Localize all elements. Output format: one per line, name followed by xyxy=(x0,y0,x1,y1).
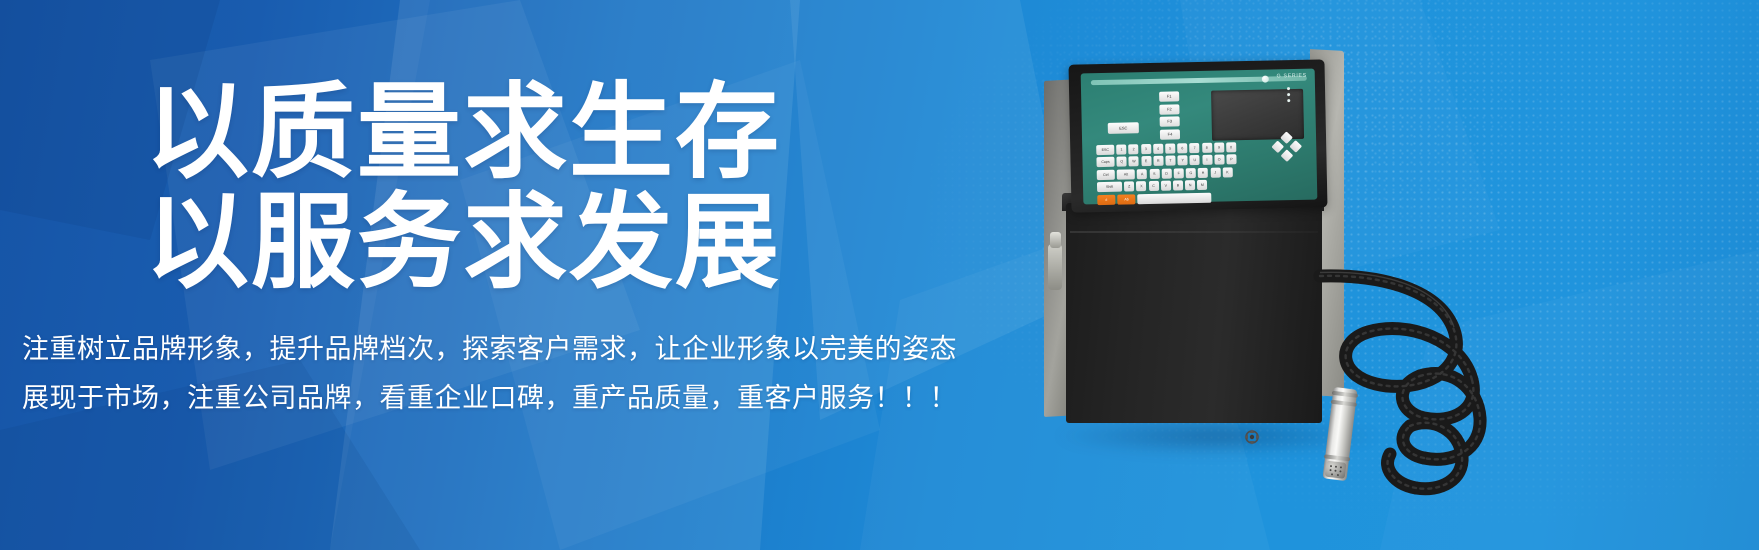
key-k[interactable]: K xyxy=(1222,167,1232,177)
key-b[interactable]: B xyxy=(1173,180,1183,190)
key-g[interactable]: G xyxy=(1186,168,1196,178)
status-led xyxy=(1262,76,1269,83)
subtitle-line-2: 展现于市场，注重公司品牌，看重企业口碑，重产品质量，重客户服务！！！ xyxy=(22,374,957,423)
subtitle: 注重树立品牌形象，提升品牌档次，探索客户需求，让企业形象以完美的姿态 展现于市场… xyxy=(22,325,957,423)
key-esc[interactable]: ESC xyxy=(1096,145,1114,155)
inkjet-printer-image: G SERIES F1 F2 F3 F4 ESC xyxy=(1012,36,1572,506)
keypad-panel: G SERIES F1 F2 F3 F4 ESC xyxy=(1081,69,1318,205)
function-key-group: F1 F2 F3 F4 xyxy=(1159,91,1180,141)
key-4[interactable]: 4 xyxy=(1153,144,1163,154)
promo-banner: 以质量求生存 以服务求发展 注重树立品牌形象，提升品牌档次，探索客户需求，让企业… xyxy=(0,0,1759,550)
key-d[interactable]: D xyxy=(1161,168,1171,178)
key-c[interactable]: C xyxy=(1148,181,1158,191)
copy-block: 以质量求生存 以服务求发展 注重树立品牌形象，提升品牌档次，探索客户需求，让企业… xyxy=(0,0,1000,550)
key-1[interactable]: 1 xyxy=(1116,145,1126,155)
cabinet-seam xyxy=(1070,231,1318,233)
subtitle-line-1: 注重树立品牌形象，提升品牌档次，探索客户需求，让企业形象以完美的姿态 xyxy=(22,325,957,374)
cabinet-lock-icon xyxy=(1242,427,1262,447)
keyboard-row: # Ab xyxy=(1097,190,1307,204)
control-head: G SERIES F1 F2 F3 F4 ESC xyxy=(1068,59,1327,212)
key-f2[interactable]: F2 xyxy=(1159,104,1179,114)
key-8[interactable]: 8 xyxy=(1202,143,1212,153)
headline: 以质量求生存 以服务求发展 xyxy=(145,78,781,298)
key-alt[interactable]: Alt xyxy=(1117,169,1135,179)
key-f[interactable]: F xyxy=(1174,168,1184,178)
key-v[interactable]: V xyxy=(1161,181,1171,191)
device-cabinet xyxy=(1066,201,1322,423)
key-shift[interactable]: Shift xyxy=(1097,182,1122,193)
key-p[interactable]: P xyxy=(1226,155,1236,165)
device-hinge xyxy=(1048,244,1062,290)
key-u[interactable]: U xyxy=(1190,155,1200,165)
headline-line-2: 以服务求发展 xyxy=(145,188,781,298)
key-f1[interactable]: F1 xyxy=(1159,91,1179,101)
key-w[interactable]: W xyxy=(1129,157,1139,167)
key-r[interactable]: R xyxy=(1153,156,1163,166)
key-f3[interactable]: F3 xyxy=(1160,116,1180,126)
key-7[interactable]: 7 xyxy=(1189,143,1199,153)
key-y[interactable]: Y xyxy=(1178,156,1188,166)
key-f4[interactable]: F4 xyxy=(1160,129,1180,139)
indicator-dots xyxy=(1287,87,1290,105)
key-5[interactable]: 5 xyxy=(1165,143,1175,153)
key-i[interactable]: I xyxy=(1202,155,1212,165)
key-caps[interactable]: Caps xyxy=(1096,157,1114,167)
key-0[interactable]: 0 xyxy=(1226,142,1236,152)
key-z[interactable]: Z xyxy=(1124,182,1134,192)
key-6[interactable]: 6 xyxy=(1177,143,1187,153)
key-esc-large[interactable]: ESC xyxy=(1108,122,1139,134)
key-space[interactable] xyxy=(1138,192,1212,204)
key-j[interactable]: J xyxy=(1210,167,1220,177)
device-hinge-upper xyxy=(1050,232,1061,248)
key-n[interactable]: N xyxy=(1185,180,1195,190)
key-q[interactable]: Q xyxy=(1117,157,1127,167)
key-2[interactable]: 2 xyxy=(1129,144,1139,154)
key-o[interactable]: O xyxy=(1214,155,1224,165)
panel-rail xyxy=(1091,76,1307,86)
key-stop[interactable]: Ab xyxy=(1117,194,1135,204)
key-3[interactable]: 3 xyxy=(1141,144,1151,154)
brand-label: G SERIES xyxy=(1277,73,1307,80)
key-e[interactable]: E xyxy=(1141,156,1151,166)
key-m[interactable]: M xyxy=(1197,180,1207,190)
key-9[interactable]: 9 xyxy=(1214,142,1224,152)
key-ctrl[interactable]: Ctrl xyxy=(1097,170,1115,180)
keyboard: ESC 1 2 3 4 5 6 7 8 9 0 Caps Q xyxy=(1096,141,1307,207)
nozzle-tip xyxy=(1325,461,1347,479)
key-s[interactable]: S xyxy=(1149,169,1159,179)
headline-line-1: 以质量求生存 xyxy=(145,75,781,191)
key-t[interactable]: T xyxy=(1165,156,1175,166)
key-h[interactable]: H xyxy=(1198,168,1208,178)
key-x[interactable]: X xyxy=(1136,181,1146,191)
key-start[interactable]: # xyxy=(1097,194,1115,204)
key-a[interactable]: A xyxy=(1137,169,1147,179)
